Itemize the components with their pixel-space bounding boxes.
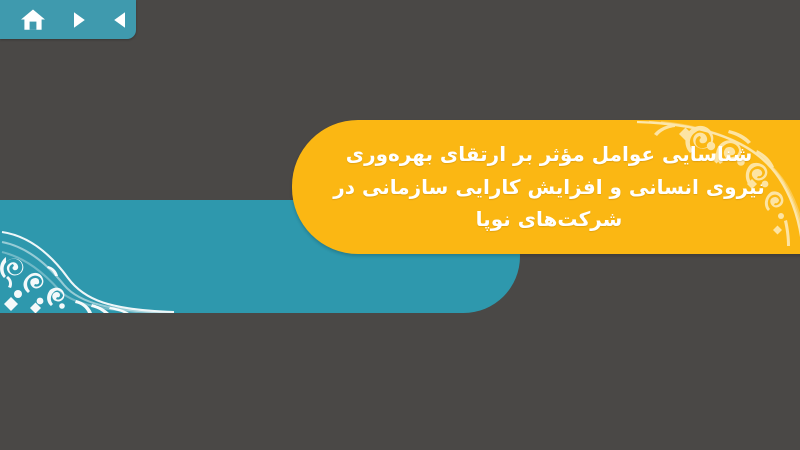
home-icon	[20, 8, 46, 32]
title-line-2: نیروی انسانی و افزایش کارایی سازمانی در	[333, 171, 764, 203]
forward-icon	[69, 10, 89, 30]
back-icon	[111, 10, 131, 30]
home-button[interactable]	[18, 5, 48, 35]
back-button[interactable]	[106, 5, 136, 35]
title-banner: شناسایی عوامل مؤثر بر ارتقای بهره‌وری نی…	[292, 120, 800, 254]
arabesque-ornament-left	[0, 200, 175, 313]
presentation-slide: شناسایی عوامل مؤثر بر ارتقای بهره‌وری نی…	[0, 0, 800, 450]
navigation-bar	[0, 0, 136, 39]
forward-button[interactable]	[64, 5, 94, 35]
title-line-3: شرکت‌های نوپا	[476, 203, 623, 235]
title-line-1: شناسایی عوامل مؤثر بر ارتقای بهره‌وری	[346, 138, 753, 170]
slide-title: شناسایی عوامل مؤثر بر ارتقای بهره‌وری نی…	[292, 120, 800, 254]
